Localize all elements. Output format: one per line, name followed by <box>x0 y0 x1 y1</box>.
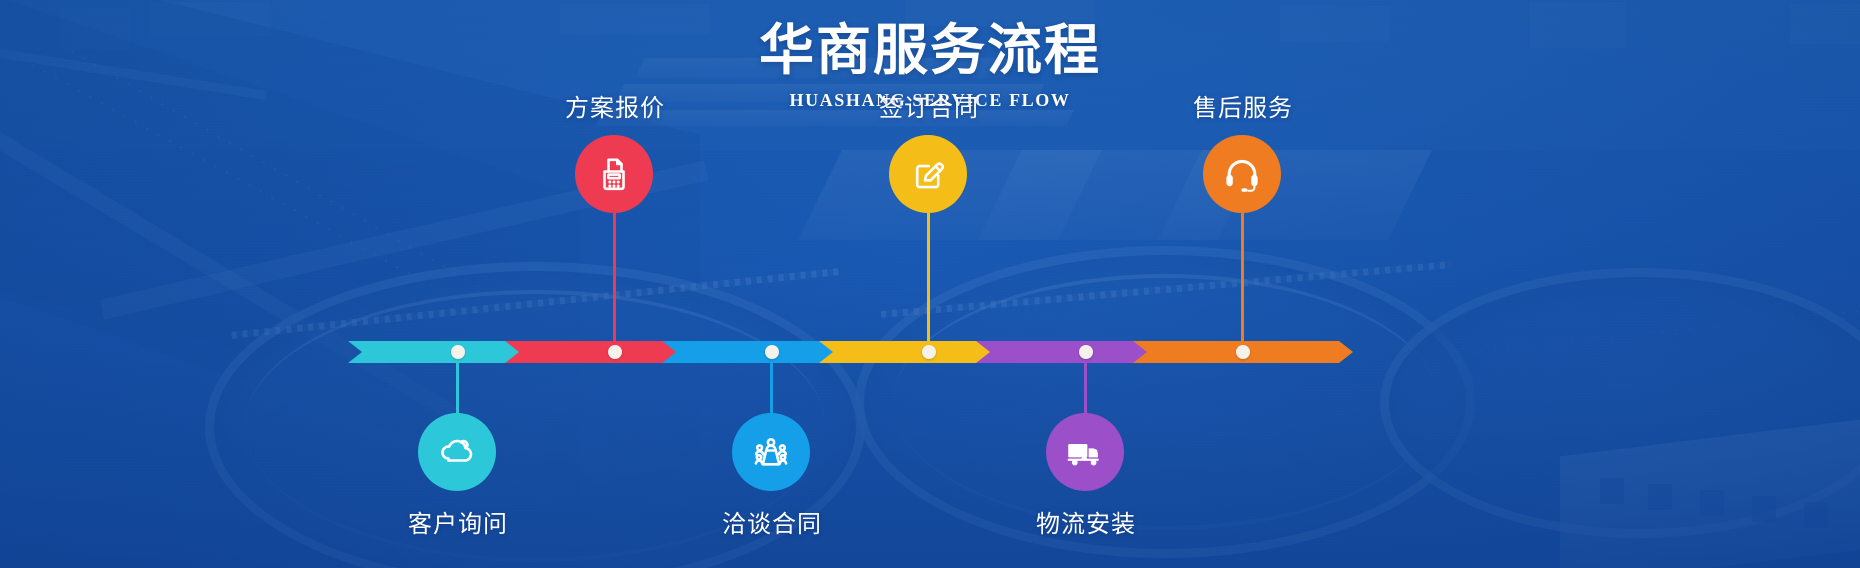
delivery-truck-icon[interactable] <box>1046 413 1124 491</box>
headset-support-icon[interactable] <box>1203 135 1281 213</box>
flow-connector-line <box>456 352 459 420</box>
flow-connector-line <box>770 352 773 420</box>
pen-signature-icon[interactable] <box>889 135 967 213</box>
flow-step-dot <box>765 345 779 359</box>
meeting-table-icon[interactable] <box>732 413 810 491</box>
flow-connector-line <box>927 213 930 346</box>
flow-connector-line <box>1241 213 1244 346</box>
flow-step-dot <box>1236 345 1250 359</box>
flow-step-dot <box>1079 345 1093 359</box>
service-flow-diagram: 客户询问方案报价洽谈合同签订合同物流安装售后服务 <box>0 0 1860 568</box>
flow-connector-line <box>1084 352 1087 420</box>
cloud-chat-icon[interactable] <box>418 413 496 491</box>
flow-step-dot <box>922 345 936 359</box>
flow-connector-line <box>613 213 616 346</box>
flow-step-label: 售后服务 <box>1133 88 1353 123</box>
flow-step-dot <box>451 345 465 359</box>
calculator-invoice-icon[interactable] <box>575 135 653 213</box>
flow-step-dot <box>608 345 622 359</box>
flow-step[interactable]: 售后服务 <box>1133 0 1353 568</box>
service-flow-banner: 华商服务流程 HUASHANG SERVICE FLOW 客户询问方案报价洽谈合… <box>0 0 1860 568</box>
